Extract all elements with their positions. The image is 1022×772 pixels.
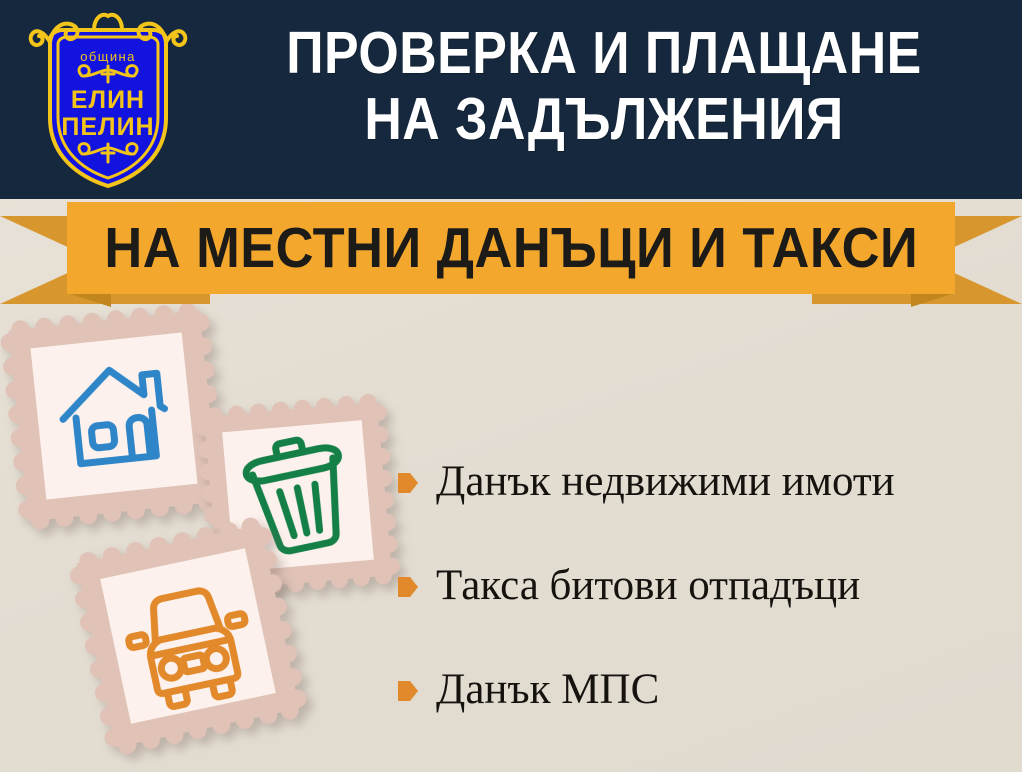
list-item[interactable]: Данък недвижими имоти — [398, 430, 1012, 534]
arrow-bullet-icon — [398, 471, 418, 495]
list-item-label: Такса битови отпадъци — [436, 562, 860, 610]
page-title-line-2: НА ЗАДЪЛЖЕНИЯ — [245, 86, 963, 152]
logo-line-2: ПЕЛИН — [61, 113, 154, 141]
subtitle-ribbon: НА МЕСТНИ ДАНЪЦИ И ТАКСИ — [0, 199, 1022, 309]
municipality-logo: община ЕЛИН ПЕЛИН — [22, 6, 194, 192]
arrow-bullet-icon — [398, 679, 418, 703]
logo-line-1: ЕЛИН — [71, 86, 145, 114]
list-item-label: Данък МПС — [436, 666, 659, 714]
stamp-card-group — [0, 300, 420, 772]
list-item-label: Данък недвижими имоти — [436, 458, 895, 506]
tax-types-list: Данък недвижими имоти Такса битови отпад… — [398, 430, 1012, 742]
list-item[interactable]: Такса битови отпадъци — [398, 534, 1012, 638]
stamp-card-vehicle-tax — [62, 510, 313, 761]
ribbon-label: НА МЕСТНИ ДАНЪЦИ И ТАКСИ — [104, 218, 918, 278]
list-item[interactable]: Данък МПС — [398, 638, 1012, 742]
page-title-line-1: ПРОВЕРКА И ПЛАЩАНЕ — [245, 20, 963, 86]
arrow-bullet-icon — [398, 575, 418, 599]
poster-header: община ЕЛИН ПЕЛИН — [0, 0, 1022, 199]
ribbon-panel: НА МЕСТНИ ДАНЪЦИ И ТАКСИ — [67, 202, 955, 294]
poster-canvas: община ЕЛИН ПЕЛИН — [0, 0, 1022, 772]
page-title: ПРОВЕРКА И ПЛАЩАНЕ НА ЗАДЪЛЖЕНИЯ — [245, 20, 963, 152]
logo-line-top: община — [80, 49, 135, 64]
